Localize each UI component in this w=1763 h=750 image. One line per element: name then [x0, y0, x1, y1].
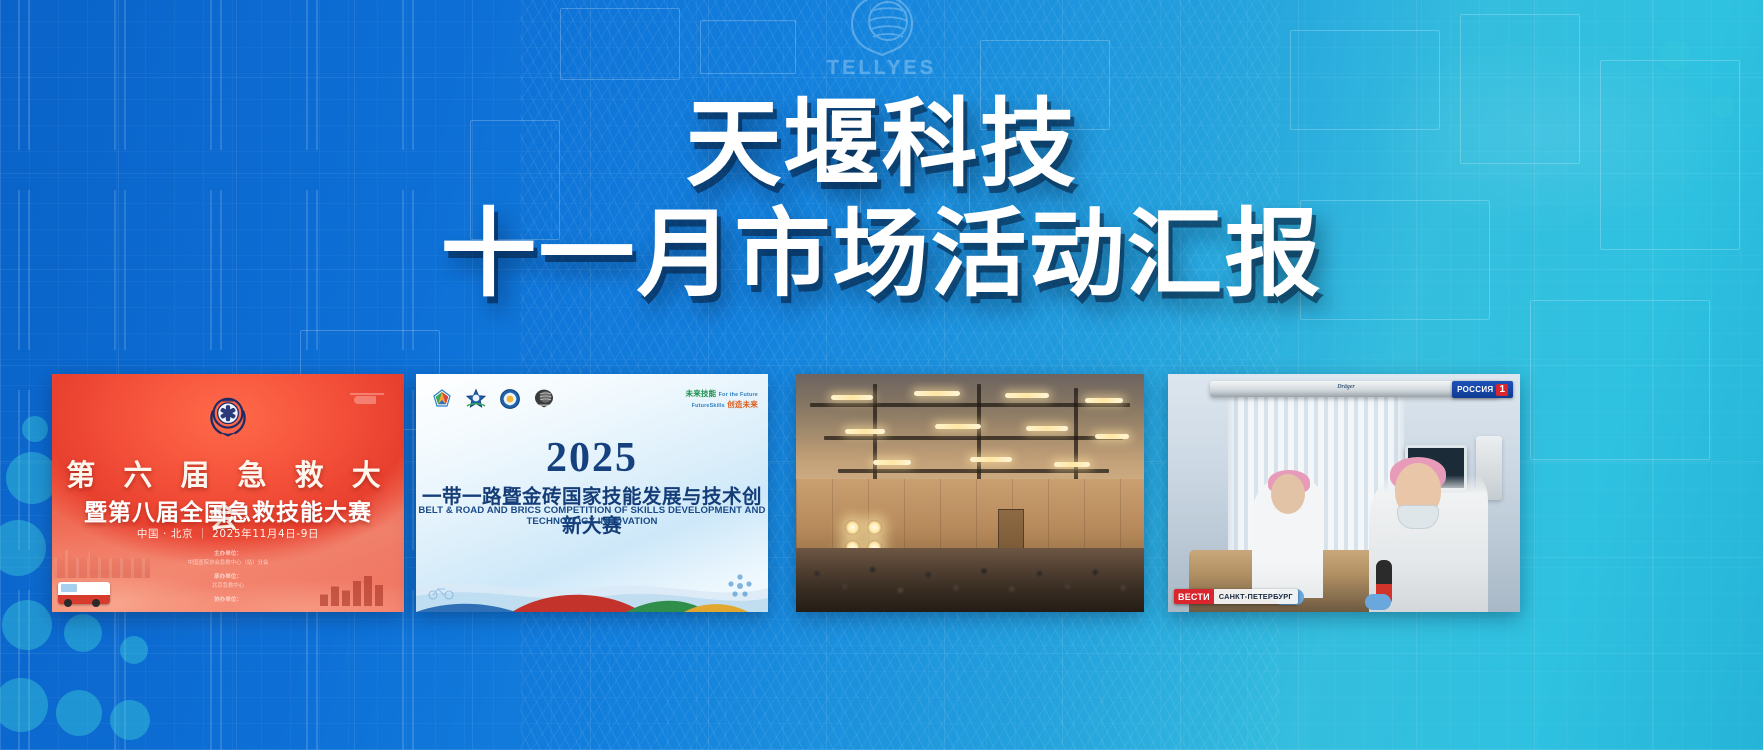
- title-line-2: 十一月市场活动汇报: [0, 202, 1763, 306]
- organizer-value-1: 中国医院协会急救中心（站）分会: [52, 559, 404, 568]
- news-photo: Dräger РОССИЯ 1 ВЕ: [1168, 374, 1520, 612]
- thumbnail-emergency-conference-poster[interactable]: 第 六 届 急 救 大 会 暨第八届全国急救技能大赛 中国 · 北京 ｜ 202…: [52, 374, 404, 612]
- channel-logo-badge: РОССИЯ 1: [1452, 381, 1513, 398]
- drager-brand-label: Dräger: [1337, 384, 1355, 390]
- page-title: 天堰科技 十一月市场活动汇报: [0, 92, 1763, 306]
- brics-skills-logo-icon: [430, 388, 454, 415]
- channel-name: РОССИЯ: [1457, 385, 1493, 394]
- lower-third-city: САНКТ-ПЕТЕРБУРГ: [1214, 589, 1298, 604]
- ambulance-icon: [58, 582, 110, 604]
- poster-subtitle: 暨第八届全国急救技能大赛: [52, 493, 404, 527]
- organizer-label-2: 承办单位：: [214, 574, 242, 580]
- thumbnail-belt-road-brics-poster[interactable]: 未来技能 For the Future FutureSkills 创造未来 20…: [416, 374, 768, 612]
- globe-logo-icon: [836, 0, 928, 56]
- thumbnail-conference-hall-photo[interactable]: [796, 374, 1144, 612]
- poster-year: 2025: [416, 434, 768, 482]
- blue-shield-logo-icon: [498, 388, 522, 415]
- poster-meta: 中国 · 北京 ｜ 2025年11月4日-9日: [52, 526, 404, 541]
- tellyes-globe-logo-icon: [532, 388, 556, 415]
- lower-third-brand: ВЕСТИ: [1174, 589, 1214, 604]
- tagline-en-2: FutureSkills: [692, 403, 725, 409]
- thumbnail-row: 第 六 届 急 救 大 会 暨第八届全国急救技能大赛 中国 · 北京 ｜ 202…: [0, 374, 1763, 616]
- medical-star-of-life-emblem-icon: [201, 388, 255, 442]
- marketing-banner: TELLYES 天堰科技 十一月市场活动汇报: [0, 0, 1763, 750]
- assistant-person: [1252, 474, 1322, 598]
- tagline-cn-2: 创造未来: [727, 400, 758, 409]
- thumbnail-russian-news-still[interactable]: Dräger РОССИЯ 1 ВЕ: [1168, 374, 1520, 612]
- poster-tagline: 未来技能 For the Future FutureSkills 创造未来: [686, 390, 758, 410]
- channel-number: 1: [1496, 384, 1508, 396]
- organizer-label-3: 协办单位：: [214, 597, 242, 603]
- city-skyline-icon: [320, 572, 394, 606]
- tellyes-watermark-text: TELLYES: [797, 57, 967, 80]
- network-nodes-icon: [726, 572, 754, 600]
- poster-background: 第 六 届 急 救 大 会 暨第八届全国急救技能大赛 中国 · 北京 ｜ 202…: [52, 374, 404, 612]
- tagline-en-1: For the Future: [719, 392, 758, 398]
- poster-logo-strip: [430, 388, 556, 415]
- organizer-label-1: 主办单位：: [214, 551, 242, 557]
- tagline-cn-1: 未来技能: [686, 389, 717, 398]
- gloved-hand-2: [1365, 594, 1391, 610]
- hall-photo: [796, 374, 1144, 612]
- title-line-1: 天堰科技: [0, 92, 1763, 196]
- lower-third-banner: ВЕСТИ САНКТ-ПЕТЕРБУРГ: [1174, 589, 1298, 604]
- poster-background: 未来技能 For the Future FutureSkills 创造未来 20…: [416, 374, 768, 612]
- reporter-person: [1369, 460, 1489, 612]
- helicopter-icon: [350, 390, 384, 404]
- poster-wave-graphic: [416, 554, 768, 612]
- star-emblem-logo-icon: [464, 388, 488, 415]
- poster-title-en: BELT & ROAD AND BRICS COMPETITION OF SKI…: [416, 505, 768, 527]
- tellyes-watermark: TELLYES: [797, 0, 967, 80]
- hall-audience: [796, 548, 1144, 612]
- bicycle-icon: [428, 586, 454, 600]
